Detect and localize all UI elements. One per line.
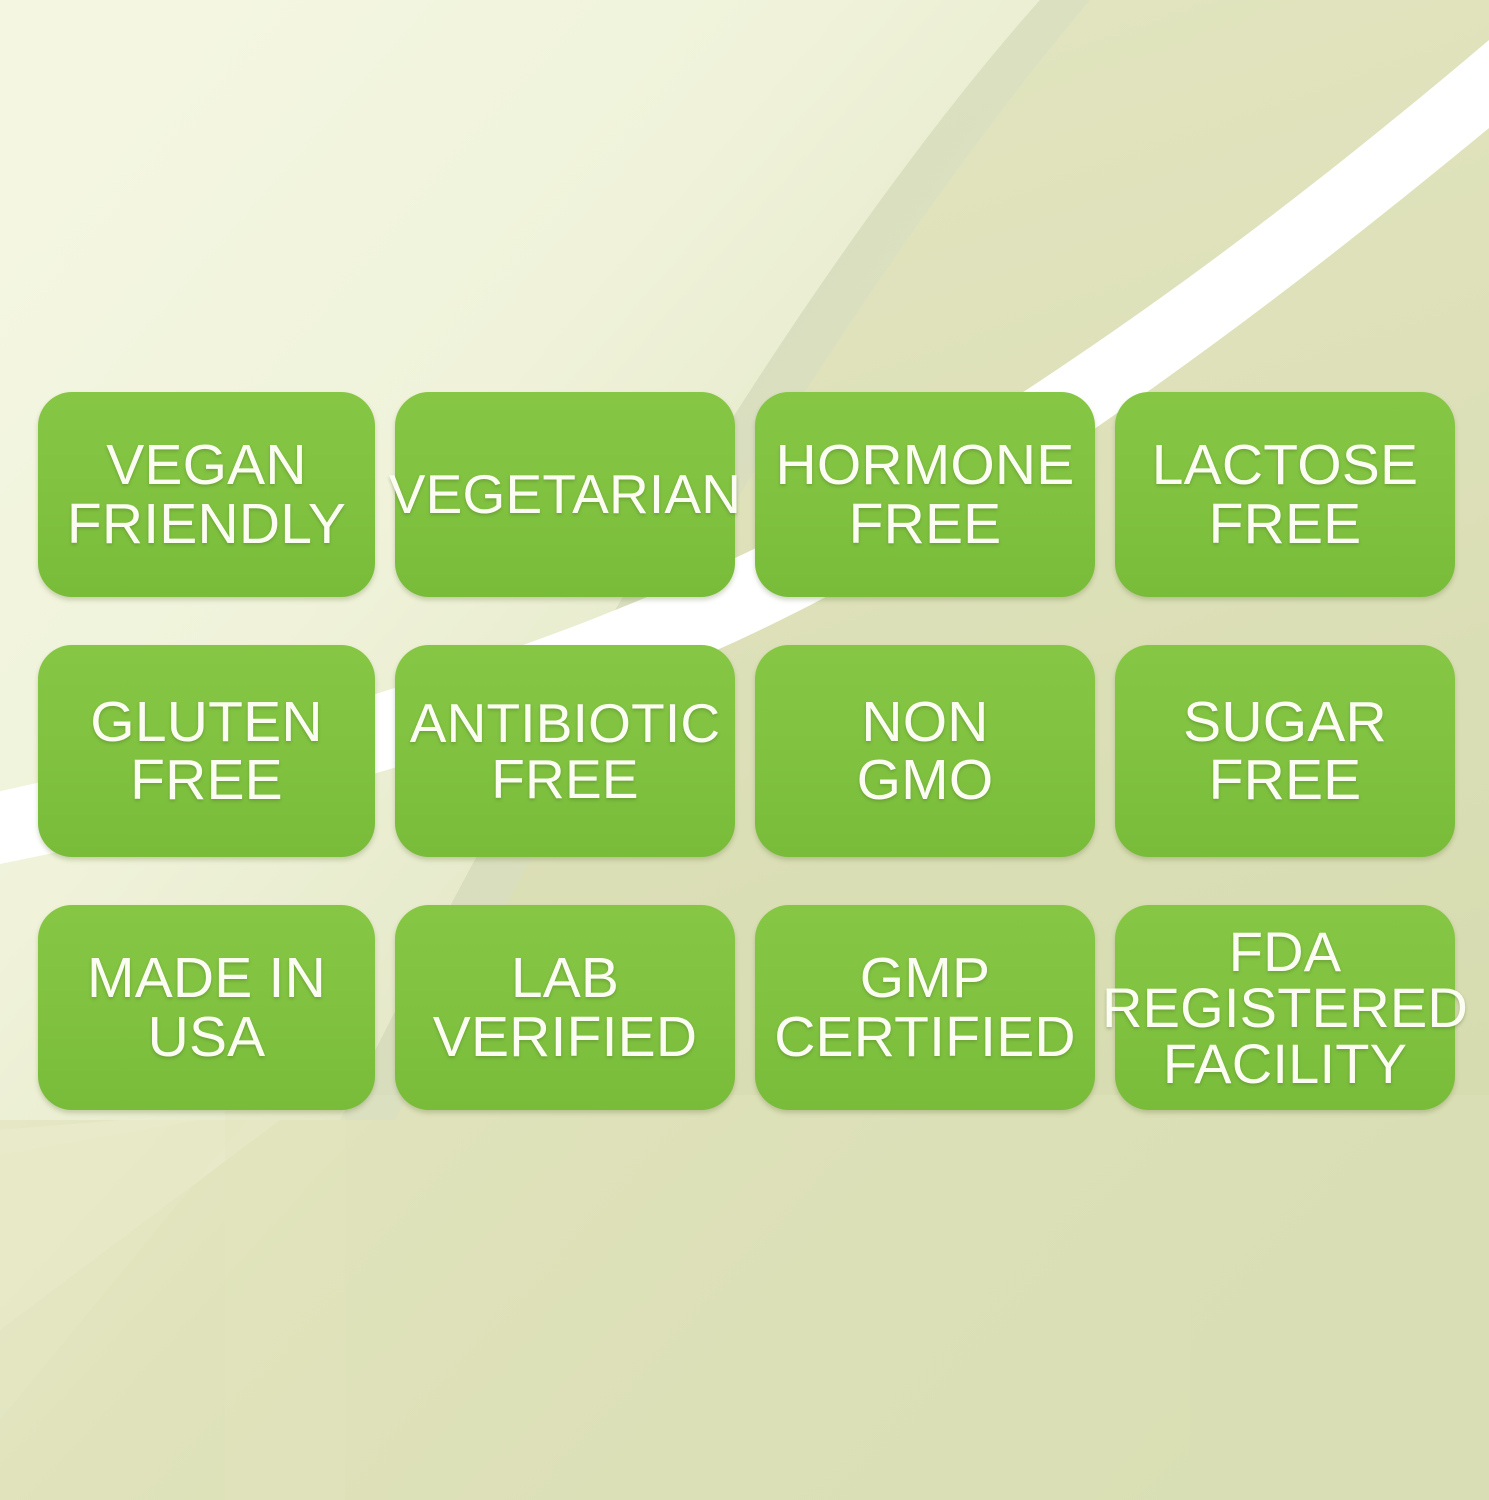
badge-lactose-free[interactable]: LACTOSE FREE [1115, 392, 1455, 597]
badge-label: VEGAN FRIENDLY [67, 436, 346, 552]
background-tint-column-1 [225, 1108, 345, 1500]
badge-label: FDA REGISTERED FACILITY [1102, 924, 1468, 1092]
badge-sugar-free[interactable]: SUGAR FREE [1115, 645, 1455, 857]
badge-antibiotic-free[interactable]: ANTIBIOTIC FREE [395, 645, 735, 857]
badge-fda-registered-facility[interactable]: FDA REGISTERED FACILITY [1115, 905, 1455, 1110]
badge-label: SUGAR FREE [1183, 693, 1387, 809]
badge-label: GLUTEN FREE [90, 693, 322, 809]
badge-gluten-free[interactable]: GLUTEN FREE [38, 645, 375, 857]
badge-label: GMP CERTIFIED [774, 949, 1076, 1065]
background-tint-column-2 [930, 1108, 1190, 1500]
badge-vegan-friendly[interactable]: VEGAN FRIENDLY [38, 392, 375, 597]
badge-hormone-free[interactable]: HORMONE FREE [755, 392, 1095, 597]
badge-label: ANTIBIOTIC FREE [410, 695, 721, 807]
badge-made-in-usa[interactable]: MADE IN USA [38, 905, 375, 1110]
badge-label: MADE IN USA [87, 949, 326, 1065]
badge-label: HORMONE FREE [775, 436, 1074, 552]
badge-label: VEGETARIAN [389, 466, 741, 522]
badge-gmp-certified[interactable]: GMP CERTIFIED [755, 905, 1095, 1110]
badge-label: LACTOSE FREE [1152, 436, 1418, 552]
certification-badge-panel: VEGAN FRIENDLY VEGETARIAN HORMONE FREE L… [0, 0, 1489, 1500]
badge-grid: VEGAN FRIENDLY VEGETARIAN HORMONE FREE L… [38, 392, 1455, 1108]
badge-label: NON GMO [857, 693, 994, 809]
badge-lab-verified[interactable]: LAB VERIFIED [395, 905, 735, 1110]
badge-non-gmo[interactable]: NON GMO [755, 645, 1095, 857]
badge-label: LAB VERIFIED [433, 949, 697, 1065]
badge-vegetarian[interactable]: VEGETARIAN [395, 392, 735, 597]
